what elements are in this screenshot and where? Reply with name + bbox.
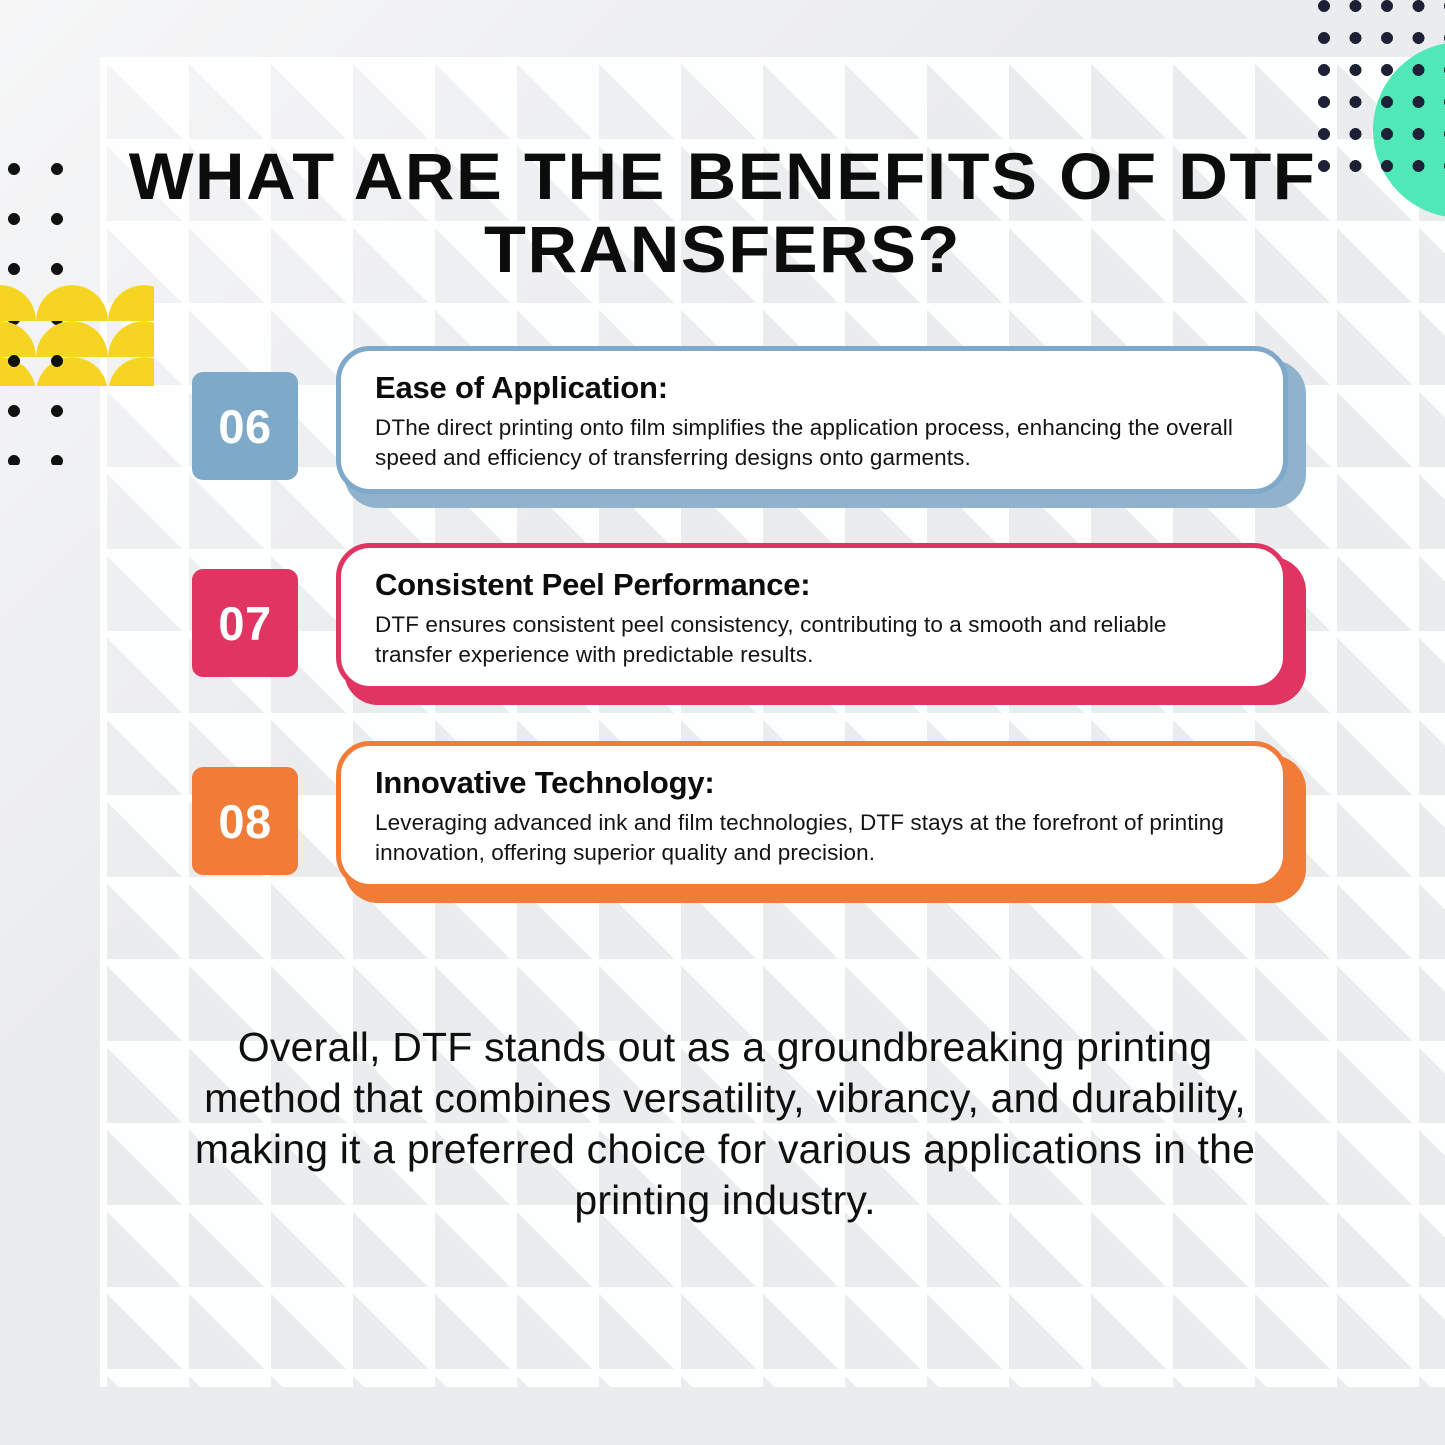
benefit-number-badge: 07 xyxy=(192,569,298,677)
benefit-body: Leveraging advanced ink and film technol… xyxy=(375,808,1247,868)
infographic-poster: WHAT ARE THE BENEFITS OF DTF TRANSFERS? … xyxy=(0,0,1445,1445)
benefit-number-badge: 06 xyxy=(192,372,298,480)
benefit-number-label: 06 xyxy=(218,399,271,454)
benefit-card: Innovative Technology: Leveraging advanc… xyxy=(336,741,1288,889)
yellow-semicircle-pattern-decoration xyxy=(0,285,154,386)
benefit-number-label: 08 xyxy=(218,794,271,849)
benefit-title: Innovative Technology: xyxy=(375,764,1247,802)
benefit-item: 07 Consistent Peel Performance: DTF ensu… xyxy=(192,537,1262,707)
benefit-body: DThe direct printing onto film simplifie… xyxy=(375,413,1247,473)
benefit-number-badge: 08 xyxy=(192,767,298,875)
teal-circle-decoration xyxy=(1373,42,1445,218)
benefit-body: DTF ensures consistent peel consistency,… xyxy=(375,610,1247,670)
benefit-item: 08 Innovative Technology: Leveraging adv… xyxy=(192,735,1262,905)
benefit-card: Consistent Peel Performance: DTF ensures… xyxy=(336,543,1288,691)
benefit-title: Ease of Application: xyxy=(375,369,1247,407)
benefit-title: Consistent Peel Performance: xyxy=(375,566,1247,604)
benefit-number-label: 07 xyxy=(218,596,271,651)
summary-paragraph: Overall, DTF stands out as a groundbreak… xyxy=(180,1022,1270,1226)
page-title: WHAT ARE THE BENEFITS OF DTF TRANSFERS? xyxy=(127,140,1318,286)
benefit-item: 06 Ease of Application: DThe direct prin… xyxy=(192,340,1262,510)
benefit-card: Ease of Application: DThe direct printin… xyxy=(336,346,1288,494)
